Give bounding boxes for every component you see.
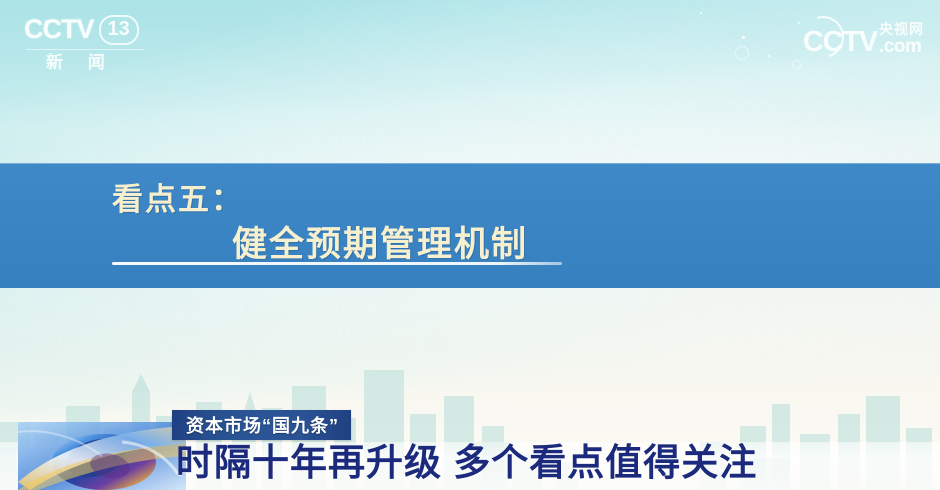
lower-third-tag-label: 资本市场“国九条” <box>186 412 339 438</box>
lower-third: 资本市场“国九条” 时隔十年再升级 多个看点值得关注 <box>0 408 940 490</box>
banner-heading-line1: 看点五： <box>112 174 244 219</box>
banner-underline <box>112 262 562 265</box>
news-globe-graphic <box>18 422 186 490</box>
topic-banner: 看点五： 健全预期管理机制 <box>0 163 940 288</box>
broadcast-frame: CCTV 13 新 闻 CCTV 央视网 .com 看点五： 健全预期管理机制 <box>0 0 940 490</box>
banner-heading-line2: 健全预期管理机制 <box>232 216 528 267</box>
lower-third-tag: 资本市场“国九条” <box>172 410 351 440</box>
lower-third-headline: 时隔十年再升级 多个看点值得关注 <box>176 441 757 485</box>
